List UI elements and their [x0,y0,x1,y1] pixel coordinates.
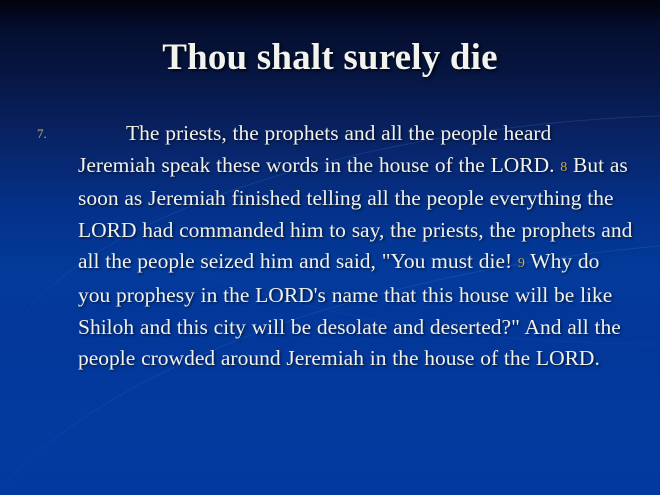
slide-title: Thou shalt surely die [0,36,660,79]
slide-body: 7. The priests, the prophets and all the… [34,118,634,375]
bullet-marker: 7. [37,127,47,140]
verse-number: 9 [518,256,525,271]
top-vignette [0,0,660,26]
presentation-slide: Thou shalt surely die 7. The priests, th… [0,0,660,495]
scripture-paragraph: The priests, the prophets and all the pe… [78,118,634,375]
bullet-list-item: 7. The priests, the prophets and all the… [34,118,634,375]
scripture-text-run: The priests, the prophets and all the pe… [78,121,560,177]
